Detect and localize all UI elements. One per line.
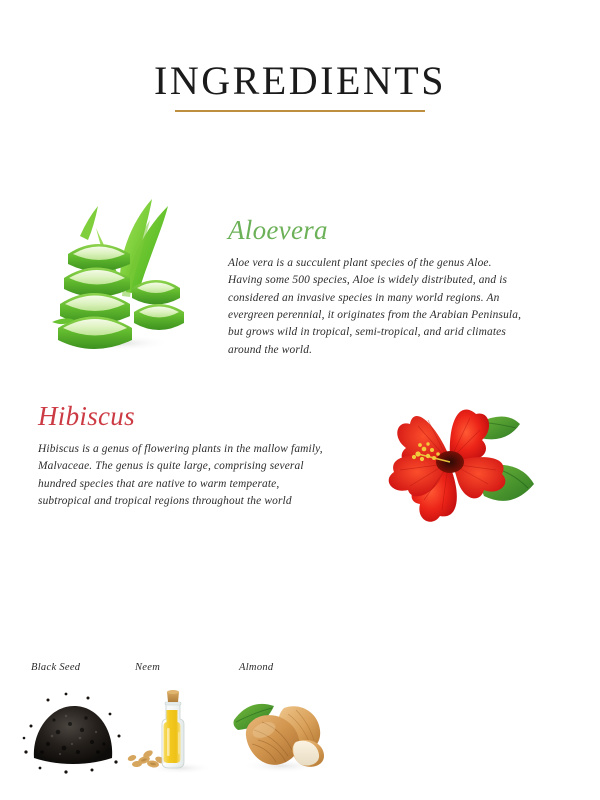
aloe-vera-image (48, 196, 208, 356)
page-header: INGREDIENTS (0, 60, 600, 112)
section-hibiscus: Hibiscus Hibiscus is a genus of flowerin… (38, 402, 328, 510)
bottom-item-neem: Neem (122, 660, 242, 790)
title-underline-rule (175, 110, 425, 112)
bottom-ingredients-row: Black Seed (0, 660, 600, 790)
black-seed-label: Black Seed (18, 660, 138, 676)
hibiscus-image (362, 396, 542, 536)
black-seed-image (18, 686, 138, 786)
page-title: INGREDIENTS (0, 60, 600, 102)
aloevera-heading: Aloevera (228, 216, 528, 246)
hibiscus-description: Hibiscus is a genus of flowering plants … (38, 441, 328, 511)
section-aloevera: Aloevera Aloe vera is a succulent plant … (228, 216, 528, 359)
almond-label: Almond (226, 660, 346, 676)
bottom-item-almond: Almond (226, 660, 346, 790)
neem-oil-image (122, 686, 242, 786)
almond-image (226, 686, 346, 786)
neem-label: Neem (122, 660, 242, 676)
hibiscus-heading: Hibiscus (38, 402, 328, 432)
bottom-item-black-seed: Black Seed (18, 660, 138, 790)
aloevera-description: Aloe vera is a succulent plant species o… (228, 255, 528, 360)
